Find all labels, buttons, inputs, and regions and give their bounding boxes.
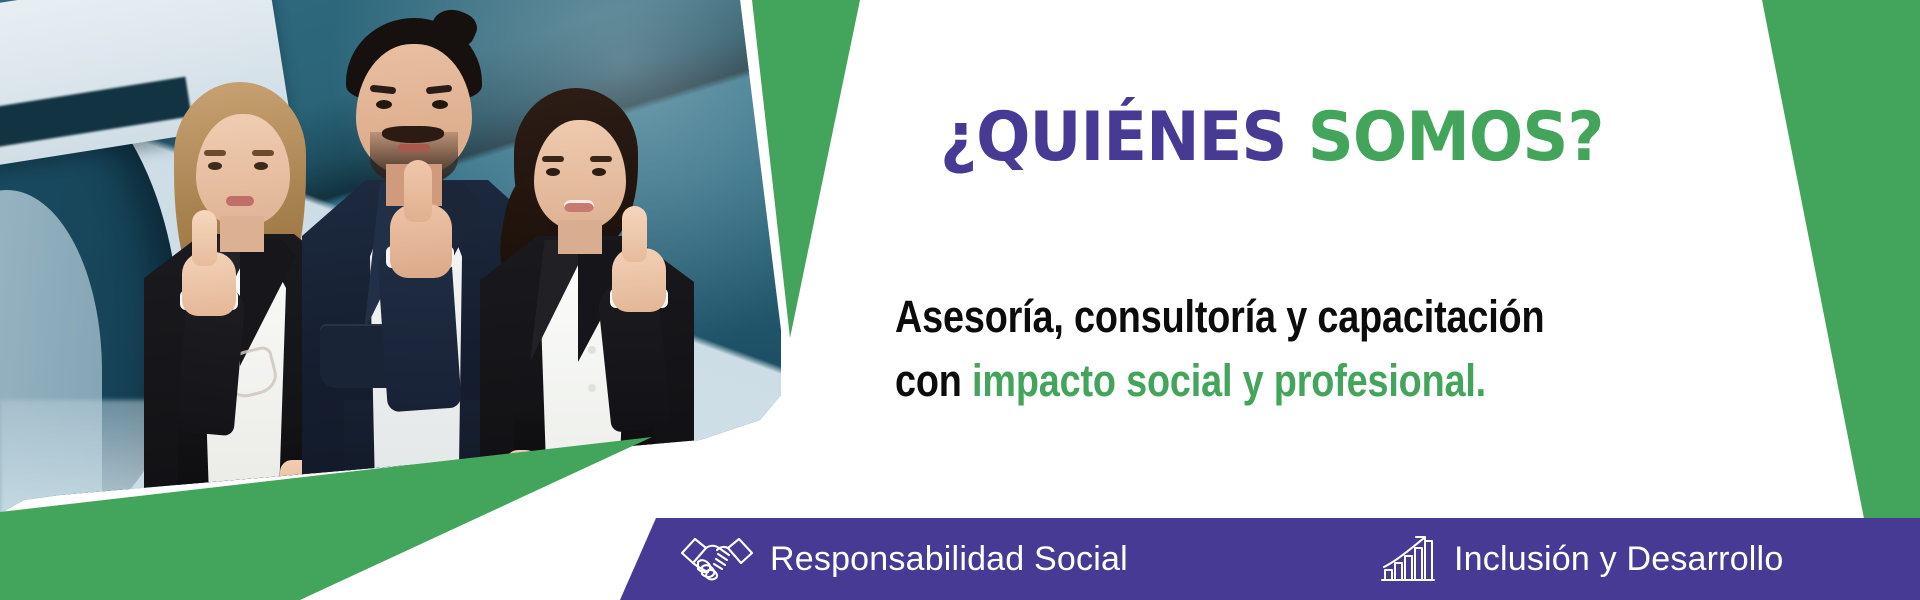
footer-bar-items: Responsabilidad Social Inclusi	[0, 518, 1920, 600]
eye-left	[376, 100, 392, 109]
subtitle-line-2-black: con	[895, 355, 962, 406]
smile	[564, 200, 594, 212]
bar-chart-growth-icon	[1380, 534, 1438, 584]
page-title: ¿QUIÉNES SOMOS?	[940, 104, 1786, 172]
team-photo	[0, 0, 800, 520]
eye-right	[254, 162, 268, 170]
neck	[558, 220, 602, 254]
eyebrow-left	[542, 156, 564, 162]
quienes-somos-banner: ¿QUIÉNES SOMOS? Asesoría, consultoría y …	[0, 0, 1920, 600]
hand-lowered	[506, 450, 538, 508]
eye-right	[592, 168, 606, 176]
shirt-button-2	[588, 346, 596, 354]
moustache	[382, 126, 444, 143]
eyebrow-left	[204, 150, 226, 156]
eye-left	[546, 168, 560, 176]
footer-item-inclusion-desarrollo[interactable]: Inclusión y Desarrollo	[1380, 534, 1783, 584]
eye-left	[208, 162, 222, 170]
photo-background	[0, 0, 800, 520]
lips	[398, 144, 430, 152]
thumbs-up-icon	[192, 210, 217, 266]
eye-right	[432, 100, 448, 109]
thumbs-up-icon	[404, 160, 432, 222]
footer-item-responsabilidad-social[interactable]: Responsabilidad Social	[680, 536, 1128, 582]
neck	[220, 216, 264, 252]
person-right-woman	[470, 98, 720, 508]
subtitle-line-2: con impacto social y profesional.	[895, 358, 1701, 403]
eyebrow-right	[590, 156, 612, 162]
face	[196, 114, 290, 226]
shirt-button-3	[588, 384, 596, 392]
footer-item-label: Responsabilidad Social	[770, 540, 1128, 579]
green-wedge-right	[1762, 0, 1920, 600]
handshake-icon	[680, 536, 754, 582]
headline-part-somos: SOMOS?	[1308, 98, 1604, 177]
thumbs-up-icon	[622, 206, 647, 262]
headline-part-quienes: ¿QUIÉNES	[940, 98, 1286, 177]
subtitle-line-2-green: impacto social y profesional.	[972, 355, 1486, 406]
footer-item-label: Inclusión y Desarrollo	[1454, 540, 1783, 579]
subtitle-line-1: Asesoría, consultoría y capacitación	[895, 294, 1701, 339]
lips	[226, 196, 254, 206]
eyebrow-right	[252, 150, 274, 156]
